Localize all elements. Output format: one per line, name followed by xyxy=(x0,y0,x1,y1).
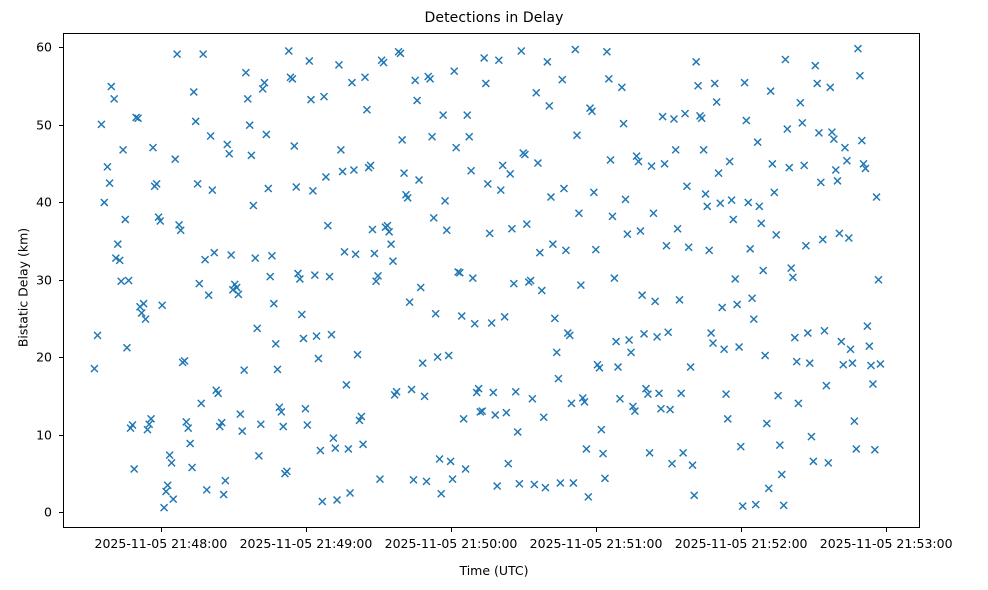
scatter-point xyxy=(164,482,171,489)
scatter-point xyxy=(106,180,113,187)
scatter-point xyxy=(864,323,871,330)
scatter-point xyxy=(737,443,744,450)
scatter-point xyxy=(406,299,413,306)
scatter-point xyxy=(146,421,153,428)
scatter-point xyxy=(371,250,378,257)
x-axis-tick-mark xyxy=(161,528,162,532)
scatter-point xyxy=(202,256,209,263)
scatter-point xyxy=(114,241,121,248)
scatter-point xyxy=(721,346,728,353)
scatter-point xyxy=(847,346,854,353)
scatter-point xyxy=(667,406,674,413)
scatter-point xyxy=(875,276,882,283)
scatter-point xyxy=(622,196,629,203)
scatter-point xyxy=(734,301,741,308)
scatter-point xyxy=(505,460,512,467)
scatter-point xyxy=(791,334,798,341)
scatter-point xyxy=(328,331,335,338)
scatter-point xyxy=(765,485,772,492)
y-axis-tick-mark xyxy=(59,357,63,358)
y-axis-tick-label: 40 xyxy=(36,195,52,210)
scatter-point xyxy=(562,247,569,254)
x-axis-tick-label: 2025-11-05 21:49:00 xyxy=(240,536,373,551)
scatter-point xyxy=(270,300,277,307)
scatter-point xyxy=(689,462,696,469)
scatter-point xyxy=(663,242,670,249)
scatter-point xyxy=(324,222,331,229)
scatter-point xyxy=(657,405,664,412)
scatter-point xyxy=(793,358,800,365)
scatter-point xyxy=(808,433,815,440)
scatter-point xyxy=(700,146,707,153)
scatter-point xyxy=(553,349,560,356)
scatter-point xyxy=(471,320,478,327)
scatter-point xyxy=(708,330,715,337)
scatter-point xyxy=(501,313,508,320)
scatter-point xyxy=(650,210,657,217)
scatter-point xyxy=(224,141,231,148)
scatter-point xyxy=(672,146,679,153)
scatter-point xyxy=(296,275,303,282)
scatter-point xyxy=(840,361,847,368)
scatter-point xyxy=(762,352,769,359)
scatter-point xyxy=(799,119,806,126)
scatter-point xyxy=(410,476,417,483)
scatter-point xyxy=(285,48,292,55)
scatter-point xyxy=(341,248,348,255)
scatter-point xyxy=(674,225,681,232)
scatter-point xyxy=(153,180,160,187)
scatter-point xyxy=(104,163,111,170)
scatter-point xyxy=(185,425,192,432)
scatter-point xyxy=(416,177,423,184)
scatter-point xyxy=(786,164,793,171)
scatter-point xyxy=(577,282,584,289)
scatter-point xyxy=(434,354,441,361)
scatter-point xyxy=(588,108,595,115)
scatter-point xyxy=(639,292,646,299)
scatter-point xyxy=(442,197,449,204)
scatter-point xyxy=(388,241,395,248)
x-axis-tick-label: 2025-11-05 21:52:00 xyxy=(675,536,808,551)
scatter-point xyxy=(752,501,759,508)
scatter-point xyxy=(414,97,421,104)
x-axis-tick-mark xyxy=(596,528,597,532)
plot-axes xyxy=(63,33,920,528)
scatter-point xyxy=(300,335,307,342)
scatter-point xyxy=(220,491,227,498)
scatter-point xyxy=(176,221,183,228)
scatter-point xyxy=(832,167,839,174)
scatter-point xyxy=(484,180,491,187)
scatter-point xyxy=(680,449,687,456)
scatter-point xyxy=(715,170,722,177)
scatter-point xyxy=(492,411,499,418)
scatter-point xyxy=(724,415,731,422)
scatter-point xyxy=(691,492,698,499)
scatter-point xyxy=(856,72,863,79)
scatter-point xyxy=(616,395,623,402)
scatter-point xyxy=(380,59,387,66)
scatter-point xyxy=(302,405,309,412)
scatter-point xyxy=(101,199,108,206)
scatter-point xyxy=(815,129,822,136)
scatter-point xyxy=(436,456,443,463)
x-axis-tick-mark xyxy=(886,528,887,532)
scatter-point xyxy=(343,381,350,388)
scatter-point xyxy=(481,54,488,61)
scatter-point xyxy=(780,502,787,509)
scatter-point xyxy=(183,418,190,425)
scatter-point xyxy=(702,190,709,197)
y-axis-tick-mark xyxy=(59,512,63,513)
scatter-point xyxy=(873,194,880,201)
scatter-point xyxy=(821,327,828,334)
scatter-point xyxy=(827,84,834,91)
scatter-point xyxy=(200,51,207,58)
x-axis-tick-label: 2025-11-05 21:53:00 xyxy=(820,536,953,551)
scatter-point xyxy=(339,168,346,175)
scatter-point xyxy=(644,391,651,398)
scatter-point xyxy=(838,338,845,345)
scatter-point xyxy=(778,471,785,478)
scatter-point xyxy=(728,197,735,204)
scatter-point xyxy=(123,344,130,351)
scatter-point xyxy=(843,157,850,164)
scatter-point xyxy=(646,449,653,456)
scatter-point xyxy=(384,222,391,229)
scatter-point xyxy=(868,362,875,369)
scatter-point xyxy=(527,277,534,284)
scatter-point xyxy=(503,409,510,416)
scatter-point xyxy=(760,267,767,274)
scatter-point xyxy=(335,61,342,68)
scatter-point xyxy=(618,84,625,91)
scatter-point xyxy=(274,366,281,373)
scatter-point xyxy=(758,220,765,227)
scatter-point xyxy=(823,382,830,389)
scatter-point xyxy=(348,79,355,86)
scatter-point xyxy=(685,244,692,251)
scatter-point xyxy=(661,160,668,167)
scatter-point xyxy=(283,468,290,475)
scatter-point xyxy=(570,479,577,486)
scatter-point xyxy=(557,479,564,486)
scatter-point xyxy=(710,340,717,347)
scatter-point xyxy=(682,110,689,117)
scatter-point xyxy=(605,75,612,82)
scatter-point xyxy=(447,458,454,465)
scatter-point xyxy=(242,69,249,76)
scatter-point xyxy=(801,162,808,169)
scatter-point xyxy=(462,466,469,473)
scatter-point xyxy=(648,163,655,170)
scatter-point xyxy=(767,88,774,95)
scatter-point xyxy=(747,245,754,252)
scatter-point xyxy=(637,228,644,235)
scatter-point xyxy=(319,498,326,505)
scatter-point xyxy=(332,445,339,452)
scatter-point xyxy=(412,77,419,84)
scatter-point xyxy=(138,309,145,316)
scatter-point xyxy=(228,252,235,259)
scatter-point xyxy=(633,153,640,160)
y-axis-tick-mark xyxy=(59,280,63,281)
scatter-point xyxy=(830,136,837,143)
scatter-point xyxy=(516,480,523,487)
scatter-point xyxy=(523,221,530,228)
scatter-point xyxy=(280,423,287,430)
scatter-point xyxy=(170,496,177,503)
scatter-point xyxy=(205,292,212,299)
scatter-point xyxy=(466,133,473,140)
scatter-point xyxy=(814,80,821,87)
scatter-point xyxy=(345,445,352,452)
scatter-point xyxy=(464,112,471,119)
scatter-point xyxy=(255,452,262,459)
scatter-point xyxy=(98,121,105,128)
scatter-point xyxy=(311,272,318,279)
scatter-point xyxy=(544,58,551,65)
scatter-point xyxy=(665,329,672,336)
scatter-point xyxy=(600,450,607,457)
x-axis-tick-label: 2025-11-05 21:50:00 xyxy=(385,536,518,551)
scatter-point xyxy=(841,144,848,151)
scatter-point xyxy=(559,76,566,83)
scatter-point xyxy=(166,452,173,459)
scatter-point xyxy=(615,364,622,371)
scatter-point xyxy=(350,167,357,174)
scatter-point xyxy=(845,235,852,242)
scatter-point xyxy=(376,476,383,483)
scatter-point xyxy=(289,75,296,82)
scatter-point xyxy=(215,390,222,397)
scatter-point xyxy=(763,420,770,427)
scatter-point xyxy=(118,278,125,285)
scatter-point xyxy=(736,343,743,350)
y-axis-tick-mark xyxy=(59,125,63,126)
scatter-point xyxy=(408,386,415,393)
scatter-point xyxy=(810,458,817,465)
scatter-point xyxy=(560,185,567,192)
scatter-point xyxy=(849,360,856,367)
scatter-point xyxy=(732,275,739,282)
scatter-point xyxy=(453,144,460,151)
scatter-point xyxy=(628,349,635,356)
scatter-point xyxy=(373,278,380,285)
scatter-point xyxy=(309,187,316,194)
scatter-point xyxy=(207,133,214,140)
scatter-point xyxy=(451,68,458,75)
scatter-point xyxy=(568,400,575,407)
scatter-point xyxy=(575,210,582,217)
scatter-point xyxy=(854,45,861,52)
scatter-point xyxy=(620,120,627,127)
scatter-point xyxy=(518,48,525,55)
scatter-point xyxy=(659,113,666,120)
scatter-point xyxy=(598,426,605,433)
chart-title: Detections in Delay xyxy=(0,10,988,26)
scatter-point xyxy=(194,180,201,187)
scatter-point xyxy=(585,493,592,500)
scatter-point xyxy=(784,126,791,133)
scatter-point xyxy=(775,392,782,399)
scatter-point xyxy=(711,80,718,87)
scatter-point xyxy=(726,158,733,165)
scatter-point xyxy=(788,265,795,272)
scatter-point xyxy=(652,298,659,305)
y-axis-tick-label: 20 xyxy=(36,350,52,365)
scatter-point xyxy=(272,340,279,347)
x-axis-tick-mark xyxy=(741,528,742,532)
scatter-point xyxy=(460,415,467,422)
scatter-point xyxy=(177,227,184,234)
scatter-point xyxy=(458,313,465,320)
scatter-point xyxy=(687,364,694,371)
scatter-point xyxy=(670,116,677,123)
scatter-point xyxy=(713,99,720,106)
scatter-point xyxy=(706,247,713,254)
scatter-point xyxy=(869,381,876,388)
matplotlib-figure: Detections in Delay 0102030405060 2025-1… xyxy=(0,0,988,590)
scatter-point xyxy=(866,343,873,350)
scatter-point xyxy=(432,310,439,317)
scatter-point xyxy=(330,435,337,442)
scatter-point xyxy=(611,275,618,282)
scatter-point xyxy=(802,242,809,249)
scatter-point xyxy=(438,490,445,497)
scatter-point xyxy=(495,57,502,64)
scatter-point xyxy=(174,51,181,58)
scatter-point xyxy=(131,466,138,473)
scatter-point xyxy=(369,226,376,233)
scatter-point xyxy=(817,179,824,186)
scatter-point xyxy=(819,236,826,243)
scatter-point xyxy=(91,365,98,372)
scatter-point xyxy=(445,352,452,359)
scatter-point xyxy=(654,333,661,340)
scatter-point xyxy=(190,88,197,95)
scatter-point xyxy=(430,214,437,221)
scatter-point xyxy=(313,333,320,340)
scatter-point xyxy=(828,129,835,136)
scatter-point xyxy=(723,391,730,398)
scatter-point xyxy=(209,187,216,194)
scatter-point xyxy=(486,230,493,237)
scatter-point xyxy=(698,115,705,122)
y-axis-tick-label: 30 xyxy=(36,272,52,287)
scatter-point xyxy=(163,488,170,495)
scatter-point xyxy=(538,287,545,294)
scatter-point xyxy=(834,177,841,184)
scatter-point xyxy=(607,156,614,163)
scatter-point xyxy=(449,476,456,483)
scatter-point xyxy=(546,102,553,109)
scatter-point xyxy=(613,338,620,345)
scatter-point xyxy=(267,273,274,280)
scatter-point xyxy=(795,400,802,407)
scatter-point xyxy=(590,189,597,196)
y-axis-tick-mark xyxy=(59,47,63,48)
scatter-point xyxy=(362,74,369,81)
x-axis-tick-mark xyxy=(306,528,307,532)
scatter-point xyxy=(326,273,333,280)
scatter-point xyxy=(776,442,783,449)
scatter-point xyxy=(773,231,780,238)
scatter-point xyxy=(771,189,778,196)
scatter-point xyxy=(542,484,549,491)
scatter-point xyxy=(440,112,447,119)
scatter-point xyxy=(741,79,748,86)
scatter-point xyxy=(490,389,497,396)
scatter-point xyxy=(161,504,168,511)
x-axis-tick-label: 2025-11-05 21:48:00 xyxy=(95,536,228,551)
y-axis-label: Bistatic Delay (km) xyxy=(16,208,31,368)
scatter-point xyxy=(656,390,663,397)
scatter-point xyxy=(745,199,752,206)
scatter-point xyxy=(321,93,328,100)
scatter-point xyxy=(237,411,244,418)
scatter-point xyxy=(268,252,275,259)
scatter-point xyxy=(782,56,789,63)
scatter-point xyxy=(148,415,155,422)
scatter-point xyxy=(427,75,434,82)
scatter-point xyxy=(641,330,648,337)
scatter-point xyxy=(150,144,157,151)
x-axis-tick-label: 2025-11-05 21:51:00 xyxy=(530,536,663,551)
scatter-point xyxy=(626,337,633,344)
scatter-point xyxy=(334,496,341,503)
scatter-point xyxy=(347,490,354,497)
scatter-point xyxy=(248,152,255,159)
scatter-point xyxy=(226,150,233,157)
scatter-point xyxy=(853,445,860,452)
y-axis-tick-label: 60 xyxy=(36,39,52,54)
scatter-point xyxy=(144,426,151,433)
scatter-point xyxy=(181,357,188,364)
scatter-point xyxy=(749,295,756,302)
scatter-point xyxy=(574,132,581,139)
scatter-point xyxy=(397,50,404,57)
scatter-point xyxy=(263,131,270,138)
scatter-point xyxy=(304,422,311,429)
scatter-point xyxy=(122,216,129,223)
scatter-point xyxy=(140,300,147,307)
scatter-point xyxy=(386,228,393,235)
scatter-point xyxy=(203,486,210,493)
scatter-point xyxy=(678,390,685,397)
scatter-point xyxy=(508,225,515,232)
scatter-point xyxy=(858,137,865,144)
scatter-point xyxy=(196,280,203,287)
scatter-point xyxy=(536,249,543,256)
scatter-point xyxy=(129,422,136,429)
scatter-point xyxy=(401,170,408,177)
scatter-point xyxy=(555,375,562,382)
scatter-point xyxy=(363,106,370,113)
scatter-point xyxy=(797,99,804,106)
scatter-point xyxy=(789,274,796,281)
x-axis-tick-mark xyxy=(451,528,452,532)
scatter-point xyxy=(635,158,642,165)
y-axis-tick-label: 0 xyxy=(44,505,52,520)
scatter-point xyxy=(693,58,700,65)
scatter-point xyxy=(877,360,884,367)
scatter-points-layer xyxy=(64,34,919,527)
scatter-point xyxy=(642,385,649,392)
scatter-point xyxy=(494,483,501,490)
scatter-point xyxy=(719,304,726,311)
